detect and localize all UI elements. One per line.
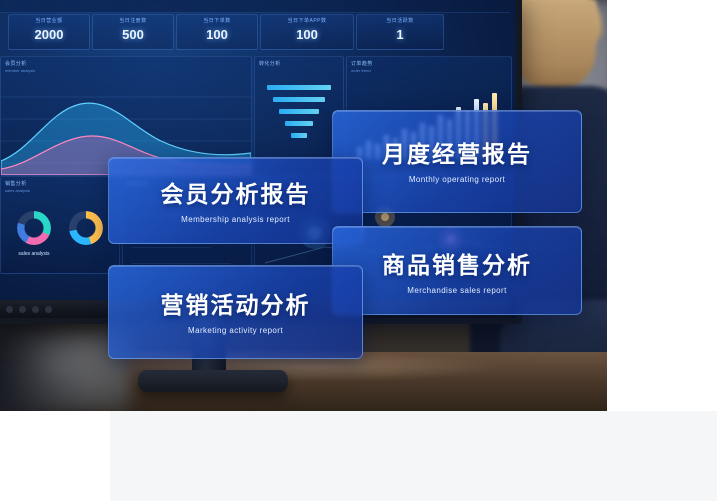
card-title: 会员分析报告 [109,183,362,206]
card-title: 营销活动分析 [109,294,362,317]
kpi-tile: 当日营业额 2000 [8,14,90,50]
report-card-monthly-operating[interactable]: 月度经营报告 Monthly operating report [332,110,582,213]
monitor-indicator-lights [6,306,52,313]
screenshot-root: 当日营业额 2000 当日注册数 500 当日下单数 100 当日下单APP数 … [0,0,717,501]
divider [131,247,211,248]
page-right-white-strip [607,0,717,411]
card-title: 商品销售分析 [333,254,581,277]
page-bottom-white-strip [0,411,110,501]
kpi-tile: 当日下单数 100 [176,14,258,50]
divider [131,263,231,264]
report-card-marketing-activity[interactable]: 营销活动分析 Marketing activity report [108,265,363,359]
monitor-stand-base [138,370,288,392]
kpi-tile: 当日活跃数 1 [356,14,444,50]
hero-photo: 当日营业额 2000 当日注册数 500 当日下单数 100 当日下单APP数 … [0,0,607,411]
kpi-tile: 当日下单APP数 100 [260,14,354,50]
card-subtitle: Marketing activity report [109,326,362,335]
person-head [512,0,596,92]
card-subtitle: Monthly operating report [333,175,581,184]
donut-chart [17,211,51,245]
card-title: 月度经营报告 [333,143,581,166]
report-card-membership-analysis[interactable]: 会员分析报告 Membership analysis report [108,157,363,244]
page-bottom-panel [110,411,717,501]
card-subtitle: Merchandise sales report [333,286,581,295]
report-card-merchandise-sales[interactable]: 商品销售分析 Merchandise sales report [332,226,582,315]
kpi-tile: 当日注册数 500 [92,14,174,50]
dashboard-topbar [0,0,510,13]
donut-chart [69,211,103,245]
card-subtitle: Membership analysis report [109,215,362,224]
chart-panel-donut: 销售分析 sales analysis sales analysis [0,176,120,274]
